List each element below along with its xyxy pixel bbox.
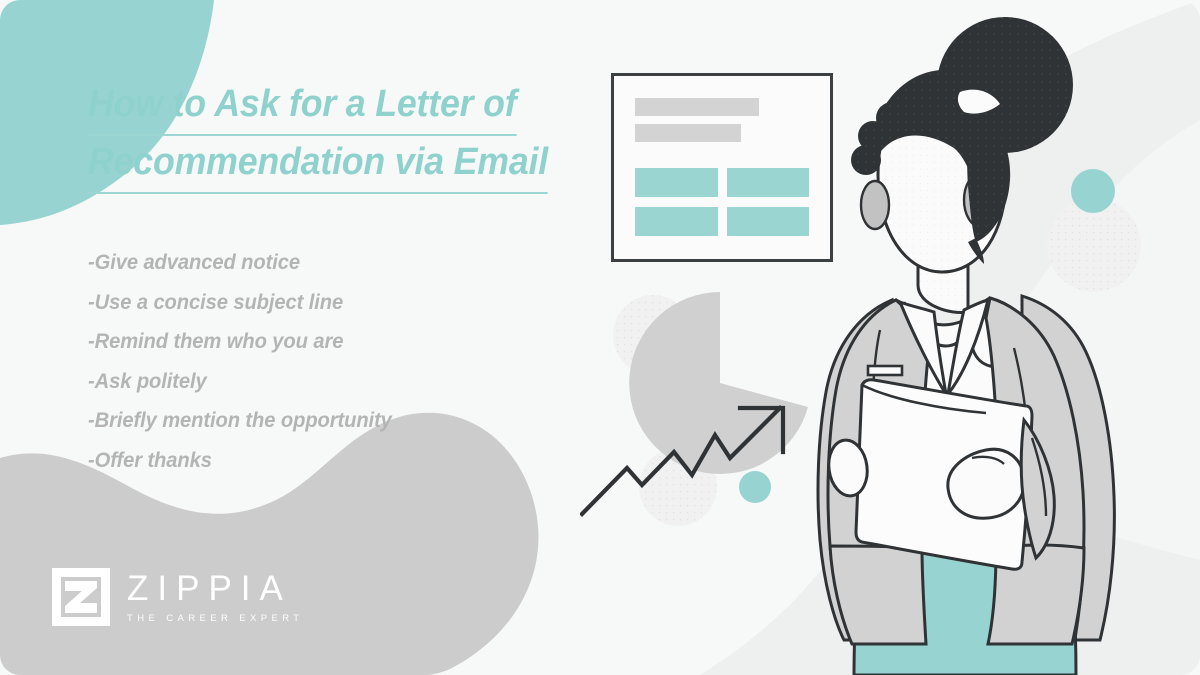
page-title-line-2: Recommendation via Email	[88, 136, 577, 194]
document-cell	[727, 168, 810, 197]
list-item: -Offer thanks	[88, 441, 392, 481]
document-cell	[727, 207, 810, 236]
hair-curl	[927, 88, 959, 120]
hair-curl	[900, 91, 932, 123]
document-cell	[635, 207, 718, 236]
document-placeholder-line	[635, 124, 741, 142]
business-woman-illustration	[800, 0, 1200, 675]
zippia-logo-text: ZIPPIA THE CAREER EXPERT	[127, 571, 304, 624]
list-item: -Briefly mention the opportunity	[88, 401, 392, 441]
zippia-z-mark-icon	[52, 568, 110, 626]
zippia-tagline: THE CAREER EXPERT	[127, 614, 304, 624]
ear-left	[861, 181, 889, 229]
list-item: -Remind them who you are	[88, 322, 392, 362]
blazer-pocket	[868, 366, 902, 375]
document-placeholder-line	[635, 98, 759, 116]
zippia-logo[interactable]: ZIPPIA THE CAREER EXPERT	[52, 568, 304, 626]
list-item: -Give advanced notice	[88, 243, 392, 283]
document-cell-grid	[635, 168, 809, 236]
page-title-line-1: How to Ask for a Letter of	[88, 78, 577, 136]
zippia-wordmark: ZIPPIA	[127, 571, 304, 606]
document-cell	[635, 168, 718, 197]
tips-list: -Give advanced notice -Use a concise sub…	[88, 243, 404, 480]
page-title: How to Ask for a Letter of Recommendatio…	[88, 78, 608, 194]
list-item: -Use a concise subject line	[88, 283, 392, 323]
list-item: -Ask politely	[88, 362, 392, 402]
infographic-canvas: How to Ask for a Letter of Recommendatio…	[0, 0, 1200, 675]
